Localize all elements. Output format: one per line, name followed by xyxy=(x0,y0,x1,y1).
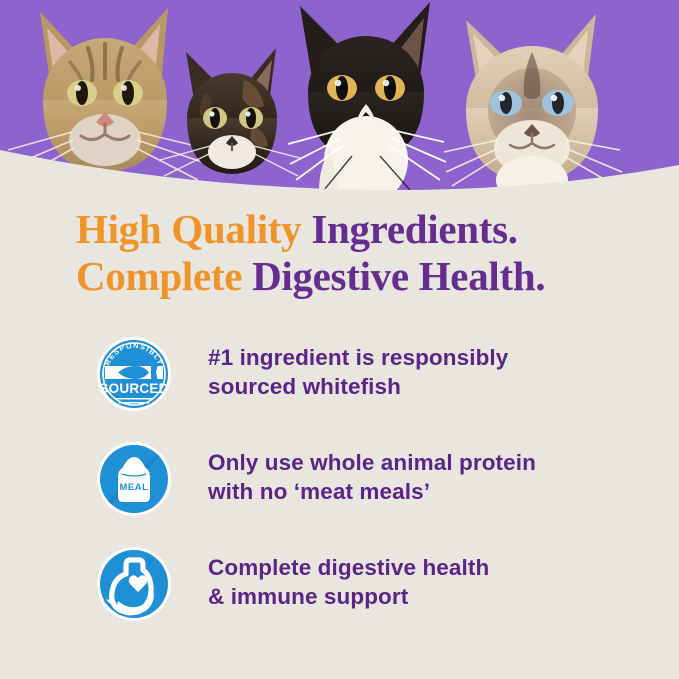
headline-line-2-purple: Digestive Health. xyxy=(252,253,545,299)
feature-3-line-2: & immune support xyxy=(208,582,489,611)
feature-1-line-1: #1 ingredient is responsibly xyxy=(208,345,508,370)
cat-tortoiseshell-kitten xyxy=(160,48,300,176)
feature-item-responsibly-sourced: RESPONSIBLY SOURCED #1 ingredient is res… xyxy=(0,336,679,441)
headline-line-2-orange: Complete xyxy=(76,253,242,299)
headline-line-1-orange: High Quality xyxy=(76,206,301,252)
feature-text-no-meat-meals: Only use whole animal protein with no ‘m… xyxy=(208,441,536,507)
headline-line-1: High Quality Ingredients. xyxy=(76,206,666,253)
feature-1-line-2: sourced whitefish xyxy=(208,372,508,401)
responsibly-sourced-badge-icon: RESPONSIBLY SOURCED xyxy=(96,336,172,412)
cat-tuxedo xyxy=(288,2,446,200)
no-meat-meal-bag-icon: MEAL xyxy=(96,441,172,517)
feature-item-digestive-health: Complete digestive health & immune suppo… xyxy=(0,546,679,651)
meal-sack-label: MEAL xyxy=(120,481,149,492)
cats-photo-group xyxy=(0,0,679,200)
feature-3-line-1: Complete digestive health xyxy=(208,555,489,580)
hero-banner xyxy=(0,0,679,200)
feature-text-digestive-health: Complete digestive health & immune suppo… xyxy=(208,546,489,612)
badge-label-sourced: SOURCED xyxy=(99,381,168,396)
headline-line-2: Complete Digestive Health. xyxy=(76,253,666,300)
feature-item-no-meat-meals: MEAL Only use whole animal protein with … xyxy=(0,441,679,546)
feature-2-line-2: with no ‘meat meals’ xyxy=(208,477,536,506)
cat-ragdoll xyxy=(444,14,622,200)
feature-2-line-1: Only use whole animal protein xyxy=(208,450,536,475)
feature-text-responsibly-sourced: #1 ingredient is responsibly sourced whi… xyxy=(208,336,508,402)
stomach-heart-digestive-health-icon xyxy=(96,546,172,622)
feature-list: RESPONSIBLY SOURCED #1 ingredient is res… xyxy=(0,336,679,651)
headline-line-1-purple: Ingredients. xyxy=(311,206,517,252)
cat-brown-tabby xyxy=(8,8,208,180)
page-headline: High Quality Ingredients. Complete Diges… xyxy=(76,206,666,299)
